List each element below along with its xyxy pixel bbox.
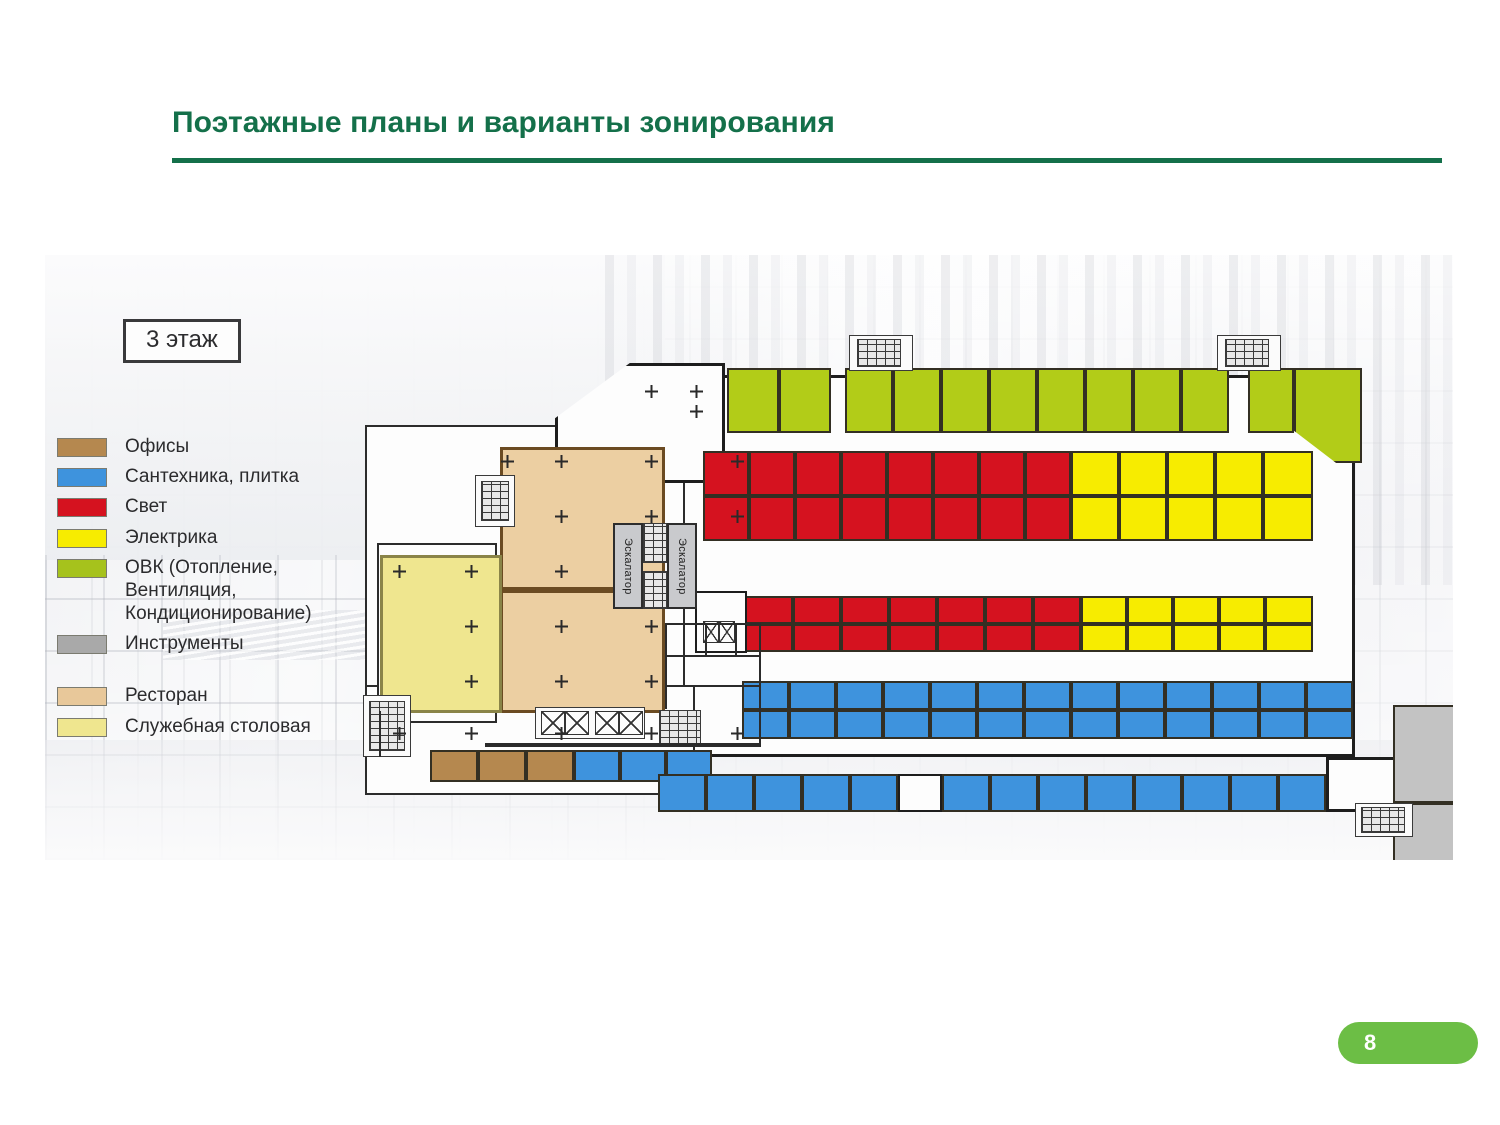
zone-plumbing-cell — [789, 710, 836, 739]
zone-hvac-cell — [845, 368, 893, 433]
zone-plumbing-cell — [1086, 774, 1134, 812]
zone-plumbing-cell — [574, 750, 620, 782]
zone-plumbing-cell — [883, 710, 930, 739]
zone-plumbing-cell — [1278, 774, 1326, 812]
zone-plumbing-cell — [658, 774, 706, 812]
zone-electrics-cell — [1167, 496, 1215, 541]
zone-light-cell — [841, 624, 889, 652]
zone-light-cell — [795, 496, 841, 541]
zone-electrics-cell — [1219, 596, 1265, 624]
zone-plumbing-cell — [789, 681, 836, 710]
title-underline-rule — [172, 158, 1442, 163]
zone-plumbing-cell — [883, 681, 930, 710]
zone-electrics-cell — [1081, 624, 1127, 652]
column-mark — [555, 510, 568, 523]
column-mark — [501, 455, 514, 468]
page-title: Поэтажные планы и варианты зонирования — [172, 106, 1372, 140]
zone-electrics-cell — [1081, 596, 1127, 624]
zone-electrics-cell — [1119, 451, 1167, 496]
column-mark — [731, 727, 744, 740]
zone-light-cell — [749, 496, 795, 541]
escalator-steps-upper — [643, 523, 667, 563]
zone-light-cell — [985, 596, 1033, 624]
roof-stair-left — [857, 339, 901, 367]
column-mark — [555, 565, 568, 578]
zone-hvac-cell — [1248, 368, 1294, 433]
column-mark — [645, 620, 658, 633]
core-wall — [759, 623, 761, 743]
zone-light-cell — [1033, 596, 1081, 624]
zone-light-cell — [1025, 496, 1071, 541]
zone-hvac-cell — [727, 368, 779, 433]
column-mark — [393, 727, 406, 740]
zone-plumbing-cell — [1165, 710, 1212, 739]
column-mark — [690, 385, 703, 398]
stair-bottom-right — [1361, 807, 1405, 833]
column-mark — [465, 620, 478, 633]
zone-offices-cell — [478, 750, 526, 782]
core-wall — [735, 625, 737, 655]
stair-upper-left — [481, 481, 509, 521]
zone-electrics-cell — [1167, 451, 1215, 496]
column-mark — [645, 385, 658, 398]
perimeter-wall-left — [379, 711, 381, 757]
zone-light-cell — [937, 596, 985, 624]
zone-light-cell — [979, 496, 1025, 541]
zone-light-cell — [795, 451, 841, 496]
zone-plumbing-cell — [977, 681, 1024, 710]
zone-electrics-cell — [1263, 496, 1313, 541]
zone-electrics-cell — [1119, 496, 1167, 541]
zone-plumbing-cell — [754, 774, 802, 812]
zone-plumbing-cell — [990, 774, 1038, 812]
zone-light-cell — [841, 596, 889, 624]
bottom-strip-gap — [898, 774, 942, 812]
zone-light-cell — [979, 451, 1025, 496]
zone-hvac-cell — [941, 368, 989, 433]
zone-electrics-cell — [1215, 451, 1263, 496]
zone-plumbing-cell — [706, 774, 754, 812]
core-wall — [705, 625, 707, 655]
zone-plumbing-cell — [1182, 774, 1230, 812]
zone-plumbing-cell — [1306, 710, 1353, 739]
zone-hvac-cell — [1181, 368, 1229, 433]
zone-hvac-cell — [1085, 368, 1133, 433]
column-mark — [645, 727, 658, 740]
core-wall — [665, 685, 761, 687]
zone-light-cell — [937, 624, 985, 652]
column-mark — [393, 565, 406, 578]
column-mark — [731, 455, 744, 468]
zone-electrics-cell — [1071, 496, 1119, 541]
zone-plumbing-cell — [1306, 681, 1353, 710]
zone-plumbing-cell — [1038, 774, 1086, 812]
zone-plumbing-cell — [836, 681, 883, 710]
escalator-right-label: Эскалатор — [676, 538, 688, 595]
zone-plumbing-cell — [1212, 681, 1259, 710]
zone-light-cell — [933, 496, 979, 541]
zone-light-cell — [887, 496, 933, 541]
zone-light-cell — [793, 624, 841, 652]
page-number-text: 8 — [1364, 1030, 1376, 1056]
zone-light-cell — [889, 624, 937, 652]
zone-light-cell — [841, 451, 887, 496]
core-wall — [665, 623, 761, 625]
column-mark — [465, 727, 478, 740]
zone-electrics-cell — [1215, 496, 1263, 541]
zone-offices-cell — [430, 750, 478, 782]
zone-light-cell — [749, 451, 795, 496]
zone-plumbing-cell — [1212, 710, 1259, 739]
zone-plumbing-cell — [1165, 681, 1212, 710]
lift-shaft — [565, 711, 589, 735]
page-number-badge: 8 — [1338, 1022, 1478, 1064]
column-mark — [555, 727, 568, 740]
stair-lower-left — [369, 701, 405, 751]
lift-shaft — [619, 711, 643, 735]
zone-plumbing-cell — [850, 774, 898, 812]
perimeter-wall-bottom — [485, 743, 761, 747]
column-mark — [645, 675, 658, 688]
zone-light-cell — [793, 596, 841, 624]
zone-plumbing-cell — [836, 710, 883, 739]
core-stair-center — [659, 710, 701, 746]
zone-plumbing-cell — [930, 710, 977, 739]
floor-plan-image: 3 этаж Офисы Сантехника, плитка Свет Эле… — [45, 255, 1453, 860]
zone-plumbing-cell — [977, 710, 1024, 739]
zone-plumbing-cell — [1118, 710, 1165, 739]
zone-light-cell — [887, 451, 933, 496]
zone-electrics-cell — [1265, 596, 1313, 624]
zone-plumbing-cell — [1230, 774, 1278, 812]
escalator-left-label: Эскалатор — [622, 538, 634, 595]
column-mark — [465, 675, 478, 688]
zone-plumbing-cell — [1024, 681, 1071, 710]
zone-plumbing-cell — [1259, 710, 1306, 739]
zone-electrics-cell — [1263, 451, 1313, 496]
zone-offices-cell — [526, 750, 574, 782]
floor-plan-drawing: Эскалатор Эскалатор — [45, 255, 1453, 860]
lift-shaft — [595, 711, 619, 735]
escalator-right: Эскалатор — [667, 523, 697, 609]
zone-electrics-cell — [1127, 624, 1173, 652]
zone-plumbing-cell — [930, 681, 977, 710]
escalator-left: Эскалатор — [613, 523, 643, 609]
zone-light-cell — [841, 496, 887, 541]
zone-plumbing-cell — [742, 710, 789, 739]
zone-tools-block — [1393, 705, 1453, 803]
zone-hvac-cell — [1133, 368, 1181, 433]
column-mark — [555, 675, 568, 688]
zone-light-cell — [889, 596, 937, 624]
zone-electrics-cell — [1071, 451, 1119, 496]
zone-electrics-cell — [1173, 624, 1219, 652]
column-mark — [555, 455, 568, 468]
zone-light-cell — [745, 596, 793, 624]
escalator-steps-lower — [643, 571, 667, 609]
zone-electrics-cell — [1127, 596, 1173, 624]
zone-canteen-block — [380, 555, 502, 713]
zone-electrics-cell — [1173, 596, 1219, 624]
column-mark — [645, 455, 658, 468]
zone-light-cell — [745, 624, 793, 652]
core-wall — [665, 655, 761, 657]
zone-electrics-cell — [1265, 624, 1313, 652]
zone-plumbing-cell — [942, 774, 990, 812]
zone-electrics-cell — [1219, 624, 1265, 652]
zone-hvac-cell — [779, 368, 831, 433]
zone-plumbing-cell — [802, 774, 850, 812]
zone-plumbing-cell — [1071, 681, 1118, 710]
zone-light-cell — [1033, 624, 1081, 652]
column-mark — [645, 510, 658, 523]
zone-light-cell — [1025, 451, 1071, 496]
core-wall — [665, 623, 667, 709]
column-mark — [731, 510, 744, 523]
zone-plumbing-cell — [1259, 681, 1306, 710]
column-mark — [465, 565, 478, 578]
column-mark — [555, 620, 568, 633]
zone-hvac-cell — [893, 368, 941, 433]
roof-stair-right — [1225, 339, 1269, 367]
zone-hvac-cell — [989, 368, 1037, 433]
zone-hvac-cell — [1037, 368, 1085, 433]
zone-light-cell — [985, 624, 1033, 652]
zone-plumbing-cell — [1118, 681, 1165, 710]
zone-plumbing-cell — [1071, 710, 1118, 739]
zone-light-cell — [933, 451, 979, 496]
column-mark — [690, 405, 703, 418]
zone-plumbing-cell — [1134, 774, 1182, 812]
zone-plumbing-cell — [1024, 710, 1071, 739]
